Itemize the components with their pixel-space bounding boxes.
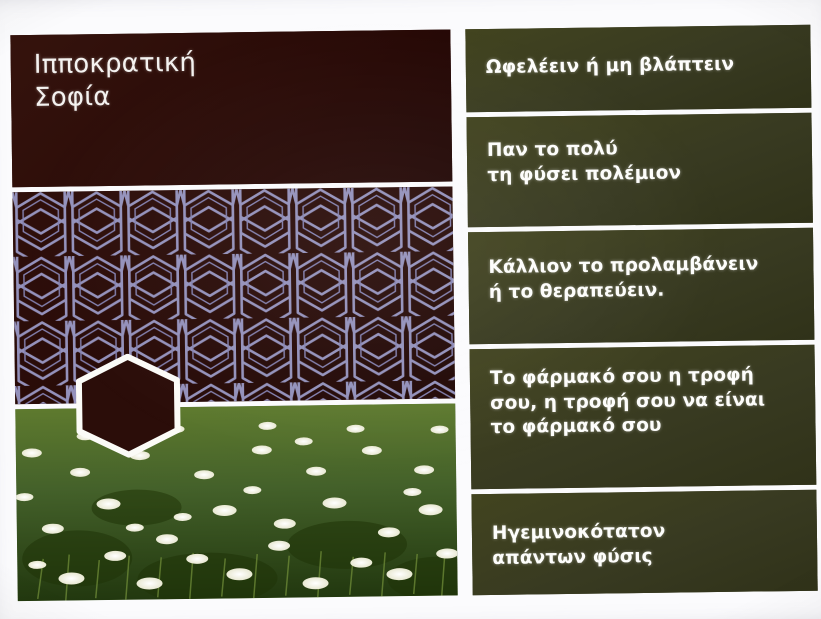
quote-box-1: Ωφελέειν ή μη βλάπτειν bbox=[465, 25, 811, 113]
quote-text-1: Ωφελέειν ή μη βλάπτειν bbox=[486, 52, 797, 81]
quote-text-4: Το φάρμακό σου η τροφή σου, η τροφή σου … bbox=[490, 363, 802, 441]
quote-box-2: Παν το πολύ τη φύσει πολέμιον bbox=[466, 113, 812, 228]
quote-4-line-2: σου, η τροφή σου να είναι bbox=[490, 388, 801, 417]
slide-title-box: Ιπποκρατική Σοφία bbox=[10, 29, 452, 187]
quote-5-line-2: απάντων φύσις bbox=[492, 542, 803, 571]
quote-text-5: Ηγεμινοκότατον απάντων φύσις bbox=[492, 518, 804, 571]
quote-box-5: Ηγεμινοκότατον απάντων φύσις bbox=[471, 490, 817, 596]
quote-text-2: Παν το πολύ τη φύσει πολέμιον bbox=[487, 135, 799, 188]
slide-content: Ιπποκρατική Σοφία bbox=[10, 25, 817, 601]
quote-3-line-1: Κάλλιον το προλαμβάνειν bbox=[488, 252, 799, 281]
quote-2-line-2: τη φύσει πολέμιον bbox=[487, 160, 798, 189]
quote-4-line-3: το φάρμακό σου bbox=[490, 412, 801, 441]
projected-slide-photo: Ιπποκρατική Σοφία bbox=[0, 0, 821, 619]
quote-text-3: Κάλλιον το προλαμβάνειν ή το θεραπεύειν. bbox=[488, 252, 800, 305]
quote-box-3: Κάλλιον το προλαμβάνειν ή το θεραπεύειν. bbox=[468, 228, 814, 345]
hexagon-icon bbox=[72, 353, 185, 458]
hexagon-accent-shape bbox=[72, 353, 185, 458]
slide-surface: Ιπποκρατική Σοφία bbox=[0, 0, 821, 619]
title-line-1: Ιπποκρατική bbox=[34, 44, 434, 82]
quote-box-4: Το φάρμακό σου η τροφή σου, η τροφή σου … bbox=[470, 345, 817, 490]
page-title: Ιπποκρατική Σοφία bbox=[34, 44, 435, 116]
quote-3-line-2: ή το θεραπεύειν. bbox=[489, 277, 800, 306]
title-line-2: Σοφία bbox=[34, 77, 434, 115]
quote-1-line-1: Ωφελέειν ή μη βλάπτειν bbox=[486, 52, 797, 81]
